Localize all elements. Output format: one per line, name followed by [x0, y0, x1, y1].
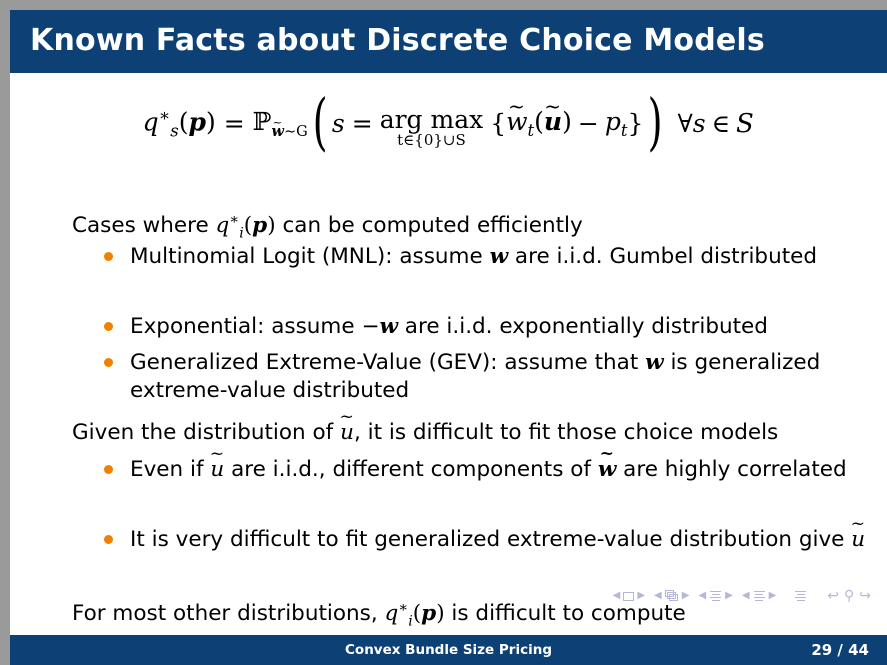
footer-bar: Convex Bundle Size Pricing 29 / 44 — [10, 635, 887, 665]
list-item: Even if ~u are i.i.d., different compone… — [102, 456, 872, 484]
formula-paren-close: ) — [648, 105, 663, 139]
slide-square-icon[interactable] — [623, 592, 634, 601]
inline-math-q-i: q∗i(p) — [385, 601, 445, 626]
bullet2-suffix: are i.i.d. exponentially distributed — [398, 314, 768, 339]
page-title: Known Facts about Discrete Choice Models — [30, 23, 765, 58]
subsection-lines-icon[interactable] — [709, 591, 722, 602]
bullet-dot-icon — [104, 358, 113, 367]
inline-math-u-tilde: ~u — [851, 526, 865, 554]
list-item: It is very difficult to fit generalized … — [102, 526, 872, 554]
line-cases-suffix: can be computed efficiently — [276, 213, 583, 238]
bullet1-suffix: are i.i.d. Gumbel distributed — [508, 244, 817, 269]
bullet2-minus: − — [361, 314, 379, 339]
nav-slide-group[interactable]: ◀ ▶ — [613, 591, 645, 601]
formula-probability-operator: ℙ~w∼G — [253, 107, 308, 140]
section-lines-icon[interactable] — [753, 591, 766, 602]
formula-price-t: pt — [605, 107, 628, 140]
list-item: Generalized Extreme-Value (GEV): assume … — [102, 349, 872, 405]
document-lines-icon[interactable] — [794, 591, 807, 602]
nav-back-find-forward-group[interactable]: ↩ ⚲ ↪ — [825, 589, 871, 603]
back-icon[interactable]: ↩ — [827, 589, 839, 603]
line-given-distribution: Given the distribution of ~u, it is diff… — [72, 419, 872, 447]
line-cases-prefix: Cases where — [72, 213, 216, 238]
list-item: Multinomial Logit (MNL): assume w are i.… — [102, 243, 872, 271]
bullet-dot-icon — [104, 322, 113, 331]
formula-brace-close: } — [627, 109, 643, 138]
slide-body: q∗s(p)=ℙ~w∼G(s=arg maxt∈{0}∪S{~wt(~u)−pt… — [10, 73, 887, 608]
formula-equals: = — [216, 109, 253, 138]
bullet2-prefix: Exponential: assume — [130, 314, 361, 339]
previous-section-arrow-icon[interactable]: ◀ — [742, 591, 750, 601]
bullet4-prefix: Even if — [130, 457, 210, 482]
bullet4-suffix: are highly correlated — [616, 457, 846, 482]
bullet-dot-icon — [104, 535, 113, 544]
formula-inner-equals: = — [345, 109, 380, 138]
formula-inner-s: s — [332, 109, 345, 138]
line-given-prefix: Given the distribution of — [72, 420, 340, 445]
formula-lhs: q∗s(p) — [143, 106, 216, 140]
nav-subsection-group[interactable]: ◀ ▶ — [698, 591, 732, 602]
title-bar: Known Facts about Discrete Choice Models — [10, 10, 887, 73]
previous-subsection-arrow-icon[interactable]: ◀ — [698, 591, 706, 601]
nav-section-group[interactable]: ◀ ▶ — [742, 591, 776, 602]
nav-frame-group[interactable]: ◀ ▶ — [654, 590, 689, 602]
formula-minus: − — [572, 109, 605, 138]
display-formula: q∗s(p)=ℙ~w∼G(s=arg maxt∈{0}∪S{~wt(~u)−pt… — [10, 103, 887, 144]
formula-argmax: arg maxt∈{0}∪S — [380, 107, 484, 148]
inline-math-u-tilde: ~u — [210, 456, 224, 484]
beamer-navigation-bar[interactable]: ◀ ▶ ◀ ▶ ◀ ▶ ◀ ▶ — [604, 585, 871, 607]
formula-paren-open: ( — [312, 105, 327, 139]
bullet3-prefix: Generalized Extreme-Value (GEV): assume … — [130, 350, 645, 375]
bullet-dot-icon — [104, 252, 113, 261]
bullet1-prefix: Multinomial Logit (MNL): assume — [130, 244, 490, 269]
next-section-arrow-icon[interactable]: ▶ — [769, 591, 777, 601]
formula-set-s: S — [736, 109, 754, 139]
line-cases-efficient: Cases where q∗i(p) can be computed effic… — [72, 206, 872, 247]
inline-math-w-bold: w — [645, 350, 664, 375]
next-subsection-arrow-icon[interactable]: ▶ — [725, 591, 733, 601]
bullet4-middle: are i.i.d., different components of — [224, 457, 598, 482]
forward-icon[interactable]: ↪ — [859, 589, 871, 603]
formula-w-tilde-t: ~wt(~u) — [506, 107, 572, 140]
inline-math-w-tilde-bold: ~w — [598, 456, 617, 484]
inline-math-w-bold: w — [490, 244, 509, 269]
frame-stack-icon[interactable] — [665, 590, 679, 602]
line-given-suffix: , it is difficult to fit those choice mo… — [354, 420, 778, 445]
slide-canvas: Known Facts about Discrete Choice Models… — [10, 10, 887, 665]
inline-math-w-bold: w — [379, 314, 398, 339]
footer-title: Convex Bundle Size Pricing — [10, 635, 887, 665]
bullet-dot-icon — [104, 465, 113, 474]
bullet5-prefix: It is very difficult to fit generalized … — [130, 527, 851, 552]
formula-in-symbol: ∈ — [706, 109, 737, 138]
list-item: Exponential: assume −w are i.i.d. expone… — [102, 313, 872, 341]
formula-forall-s: s — [693, 109, 706, 138]
slide-page: Known Facts about Discrete Choice Models… — [0, 0, 887, 665]
next-slide-arrow-icon[interactable]: ▶ — [637, 591, 645, 601]
inline-math-u-tilde: ~u — [340, 419, 354, 447]
formula-forall: ∀ — [668, 109, 693, 138]
next-frame-arrow-icon[interactable]: ▶ — [682, 591, 690, 601]
inline-math-q-i: q∗i(p) — [216, 213, 276, 238]
search-icon[interactable]: ⚲ — [844, 589, 854, 603]
page-number: 29 / 44 — [811, 635, 869, 665]
formula-brace-open: { — [483, 109, 506, 138]
nav-document-group[interactable] — [794, 591, 807, 602]
previous-frame-arrow-icon[interactable]: ◀ — [654, 591, 662, 601]
previous-slide-arrow-icon[interactable]: ◀ — [613, 591, 621, 601]
line-most-prefix: For most other distributions, — [72, 601, 385, 626]
